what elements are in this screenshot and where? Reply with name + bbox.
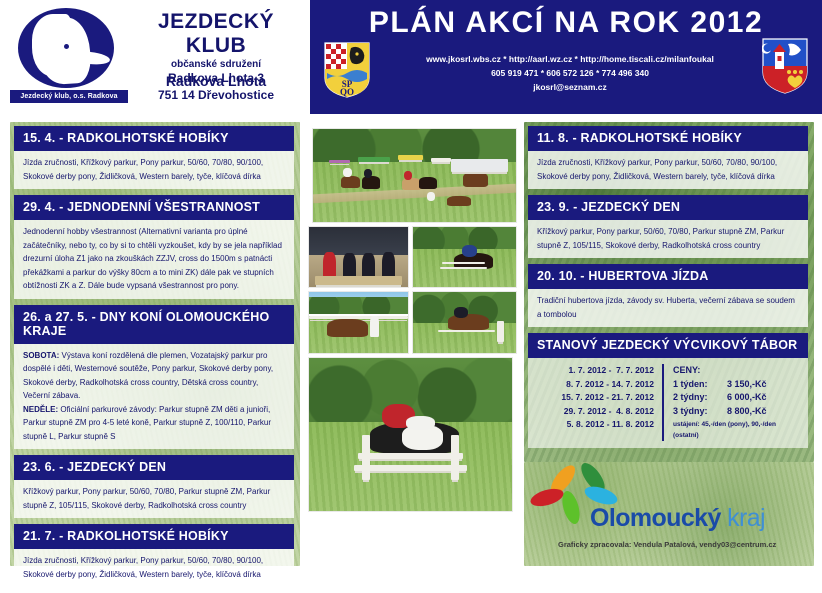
club-title-line1: JEZDECKÝ KLUB xyxy=(130,10,302,58)
camp-price-list: CENY: 1 týden: 3 150,-Kč 2 týdny: 6 000,… xyxy=(664,364,800,441)
events-column-right: 11. 8. - RADKOLHOTSKÉ HOBÍKY Jízda zručn… xyxy=(528,126,808,448)
logo-petal-lightgreen xyxy=(559,489,583,526)
horse-eye-shape xyxy=(64,44,69,49)
banner-contact-info: www.jkosrl.wbs.cz * http://aarl.wz.cz * … xyxy=(400,52,740,94)
olomouc-region-coat-of-arms-icon: SP QO xyxy=(324,42,370,98)
event-title: 23. 9. - JEZDECKÝ DEN xyxy=(528,195,808,220)
page-header: Jezdecký klub, o.s. Radkova Lhota JEZDEC… xyxy=(0,0,822,118)
price-label: 1 týden: xyxy=(673,378,727,392)
events-column-left: 15. 4. - RADKOLHOTSKÉ HOBÍKY Jízda zručn… xyxy=(14,126,294,593)
event-title: 15. 4. - RADKOLHOTSKÉ HOBÍKY xyxy=(14,126,294,151)
event-title: 11. 8. - RADKOLHOTSKÉ HOBÍKY xyxy=(528,126,808,151)
photo-horse-presentation xyxy=(308,291,409,354)
camp-prices-title: CENY: xyxy=(673,364,800,378)
kraj-word-sub: kraj xyxy=(721,504,765,532)
price-label: 2 týdny: xyxy=(673,391,727,405)
graphics-credit: Graficky zpracovala: Vendula Patalová, v… xyxy=(558,540,776,549)
saturday-label: SOBOTA: xyxy=(23,351,59,360)
photo-collage xyxy=(308,128,520,568)
club-address: Radkova Lhota 3 751 14 Dřevohostice xyxy=(130,70,302,104)
event-description: Tradiční hubertova jízda, závody sv. Hub… xyxy=(528,289,808,327)
event-block[interactable]: 20. 10. - HUBERTOVA JÍZDA Tradiční huber… xyxy=(528,264,808,327)
club-address-line1: Radkova Lhota 3 xyxy=(130,70,302,87)
camp-date: 15. 7. 2012 - 21. 7. 2012 xyxy=(536,391,654,405)
event-title: 20. 10. - HUBERTOVA JÍZDA xyxy=(528,264,808,289)
event-block[interactable]: 21. 7. - RADKOLHOTSKÉ HOBÍKY Jízda zručn… xyxy=(14,524,294,587)
camp-date-list: 1. 7. 2012 - 7. 7. 2012 8. 7. 2012 - 14.… xyxy=(536,364,664,441)
camp-date: 8. 7. 2012 - 14. 7. 2012 xyxy=(536,378,654,392)
svg-text:QO: QO xyxy=(340,87,354,97)
drevohostice-coat-of-arms-icon xyxy=(762,38,808,94)
event-title: 21. 7. - RADKOLHOTSKÉ HOBÍKY xyxy=(14,524,294,549)
photo-competition-grounds-overview xyxy=(312,128,517,223)
logo-petal-red xyxy=(529,486,566,510)
event-block[interactable]: 23. 6. - JEZDECKÝ DEN Křížkový parkur, P… xyxy=(14,455,294,518)
photo-cross-country-jump xyxy=(412,226,517,288)
club-title-line2: občanské sdružení xyxy=(130,59,302,70)
photo-show-jumping-rider xyxy=(412,291,517,354)
camp-date: 1. 7. 2012 - 7. 7. 2012 xyxy=(536,364,654,378)
camp-date: 5. 8. 2012 - 11. 8. 2012 xyxy=(536,418,654,432)
banner-title: PLÁN AKCÍ NA ROK 2012 xyxy=(310,6,822,40)
camp-details: 1. 7. 2012 - 7. 7. 2012 8. 7. 2012 - 14.… xyxy=(528,358,808,448)
event-title: 26. a 27. 5. - DNY KONÍ OLOMOUCKÉHO KRAJ… xyxy=(14,305,294,344)
camp-stabling-note: ustájení: 45,-/den (pony), 90,-/den (ost… xyxy=(673,419,800,441)
event-block[interactable]: 23. 9. - JEZDECKÝ DEN Křížkový parkur, P… xyxy=(528,195,808,258)
event-description: Jízda zručnosti, Křížkový parkur, Pony p… xyxy=(528,151,808,189)
logo-badge: Jezdecký klub, o.s. Radkova Lhota xyxy=(10,90,128,103)
event-block[interactable]: 11. 8. - RADKOLHOTSKÉ HOBÍKY Jízda zručn… xyxy=(528,126,808,189)
event-block[interactable]: 15. 4. - RADKOLHOTSKÉ HOBÍKY Jízda zručn… xyxy=(14,126,294,189)
price-value: 3 150,-Kč xyxy=(727,378,800,392)
horse-head-logo-icon xyxy=(18,8,114,88)
saturday-text: Výstava koní rozdělená dle plemen, Vozat… xyxy=(23,351,273,401)
kraj-word-main: Olomoucký xyxy=(590,504,721,532)
camp-price-row: 2 týdny: 6 000,-Kč xyxy=(673,391,800,405)
event-description: Jednodenní hobby všestrannost (Alternati… xyxy=(14,220,294,299)
club-identity-block: Jezdecký klub, o.s. Radkova Lhota JEZDEC… xyxy=(0,0,308,118)
camp-price-row: 3 týdny: 8 800,-Kč xyxy=(673,405,800,419)
club-address-line2: 751 14 Dřevohostice xyxy=(130,87,302,104)
price-value: 6 000,-Kč xyxy=(727,391,800,405)
price-value: 8 800,-Kč xyxy=(727,405,800,419)
event-description: SOBOTA: Výstava koní rozdělená dle pleme… xyxy=(14,344,294,450)
sunday-label: NEDĚLE: xyxy=(23,405,58,414)
event-description: Jízda zručnosti, Křížkový parkur, Pony p… xyxy=(14,151,294,189)
camp-title: STANOVÝ JEZDECKÝ VÝCVIKOVÝ TÁBOR xyxy=(528,333,808,358)
camp-section[interactable]: STANOVÝ JEZDECKÝ VÝCVIKOVÝ TÁBOR 1. 7. 2… xyxy=(528,333,808,448)
camp-date: 29. 7. 2012 - 4. 8. 2012 xyxy=(536,405,654,419)
event-description: Jízda zručnosti, Křížkový parkur, Pony p… xyxy=(14,549,294,587)
olomoucky-kraj-logo: Olomoucký kraj Graficky zpracovala: Vend… xyxy=(528,466,808,548)
price-label: 3 týdny: xyxy=(673,405,727,419)
event-title: 29. 4. - JEDNODENNÍ VŠESTRANNOST xyxy=(14,195,294,220)
main-banner: PLÁN AKCÍ NA ROK 2012 xyxy=(310,0,822,114)
photo-pinto-horse-jumping xyxy=(308,357,513,512)
banner-phones: 605 919 471 * 606 572 126 * 774 496 340 xyxy=(400,66,740,80)
event-block[interactable]: 26. a 27. 5. - DNY KONÍ OLOMOUCKÉHO KRAJ… xyxy=(14,305,294,450)
event-title: 23. 6. - JEZDECKÝ DEN xyxy=(14,455,294,480)
banner-websites: www.jkosrl.wbs.cz * http://aarl.wz.cz * … xyxy=(400,52,740,66)
sunday-text: Oficiální parkurové závody: Parkur stupn… xyxy=(23,405,271,441)
banner-email: jkosrl@seznam.cz xyxy=(400,80,740,94)
event-description: Křížkový parkur, Pony parkur, 50/60, 70/… xyxy=(528,220,808,258)
photo-prize-giving-indoor xyxy=(308,226,409,288)
event-description: Křížkový parkur, Pony parkur, 50/60, 70/… xyxy=(14,480,294,518)
kraj-wordmark: Olomoucký kraj xyxy=(590,504,765,533)
poster-page: Jezdecký klub, o.s. Radkova Lhota JEZDEC… xyxy=(0,0,822,575)
camp-price-row: 1 týden: 3 150,-Kč xyxy=(673,378,800,392)
event-block[interactable]: 29. 4. - JEDNODENNÍ VŠESTRANNOST Jednode… xyxy=(14,195,294,299)
